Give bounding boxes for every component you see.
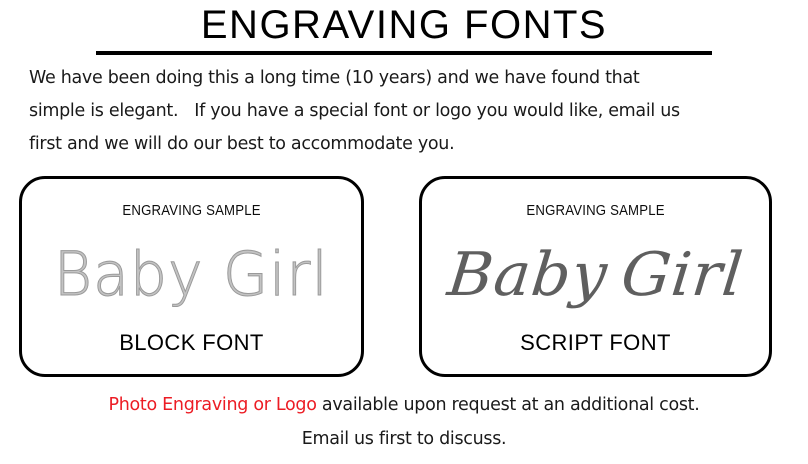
- title-underline-rule: [96, 51, 712, 55]
- intro-line-2a: simple is elegant.: [29, 101, 178, 121]
- page-title: ENGRAVING FONTS: [0, 2, 808, 48]
- sample-word-block-first: Baby: [54, 239, 204, 310]
- sample-word-block: BabyGirl: [54, 243, 329, 307]
- font-sample-card-script[interactable]: ENGRAVING SAMPLE BabyGirl SCRIPT FONT: [419, 176, 772, 377]
- sample-label-block: BLOCK FONT: [119, 331, 264, 355]
- intro-line-1: We have been doing this a long time (10 …: [29, 68, 639, 88]
- font-sample-cards: ENGRAVING SAMPLE BabyGirl BLOCK FONT ENG…: [0, 176, 808, 380]
- intro-line-3: first and we will do our best to accommo…: [29, 134, 454, 154]
- sample-caption-script: ENGRAVING SAMPLE: [526, 202, 664, 219]
- intro-paragraph: We have been doing this a long time (10 …: [29, 62, 781, 161]
- sample-word-script: BabyGirl: [445, 242, 747, 308]
- footer-rest-text: available upon request at an additional …: [317, 395, 700, 415]
- sample-caption-block: ENGRAVING SAMPLE: [122, 202, 260, 219]
- sample-word-script-first: Baby: [444, 240, 611, 310]
- sample-word-script-second: Girl: [618, 240, 747, 310]
- footer-highlight-text: Photo Engraving or Logo: [108, 395, 316, 415]
- sample-word-block-second: Girl: [223, 239, 329, 310]
- page-title-block: ENGRAVING FONTS: [0, 2, 808, 55]
- font-sample-card-block[interactable]: ENGRAVING SAMPLE BabyGirl BLOCK FONT: [19, 176, 364, 377]
- intro-line-2b: If you have a special font or logo you w…: [194, 101, 680, 121]
- sample-word-wrap-block: BabyGirl: [22, 219, 361, 331]
- footer-note: Photo Engraving or Logo available upon r…: [0, 388, 808, 456]
- sample-word-wrap-script: BabyGirl: [422, 219, 769, 331]
- sample-label-script: SCRIPT FONT: [520, 331, 671, 355]
- footer-line-2: Email us first to discuss.: [302, 429, 507, 449]
